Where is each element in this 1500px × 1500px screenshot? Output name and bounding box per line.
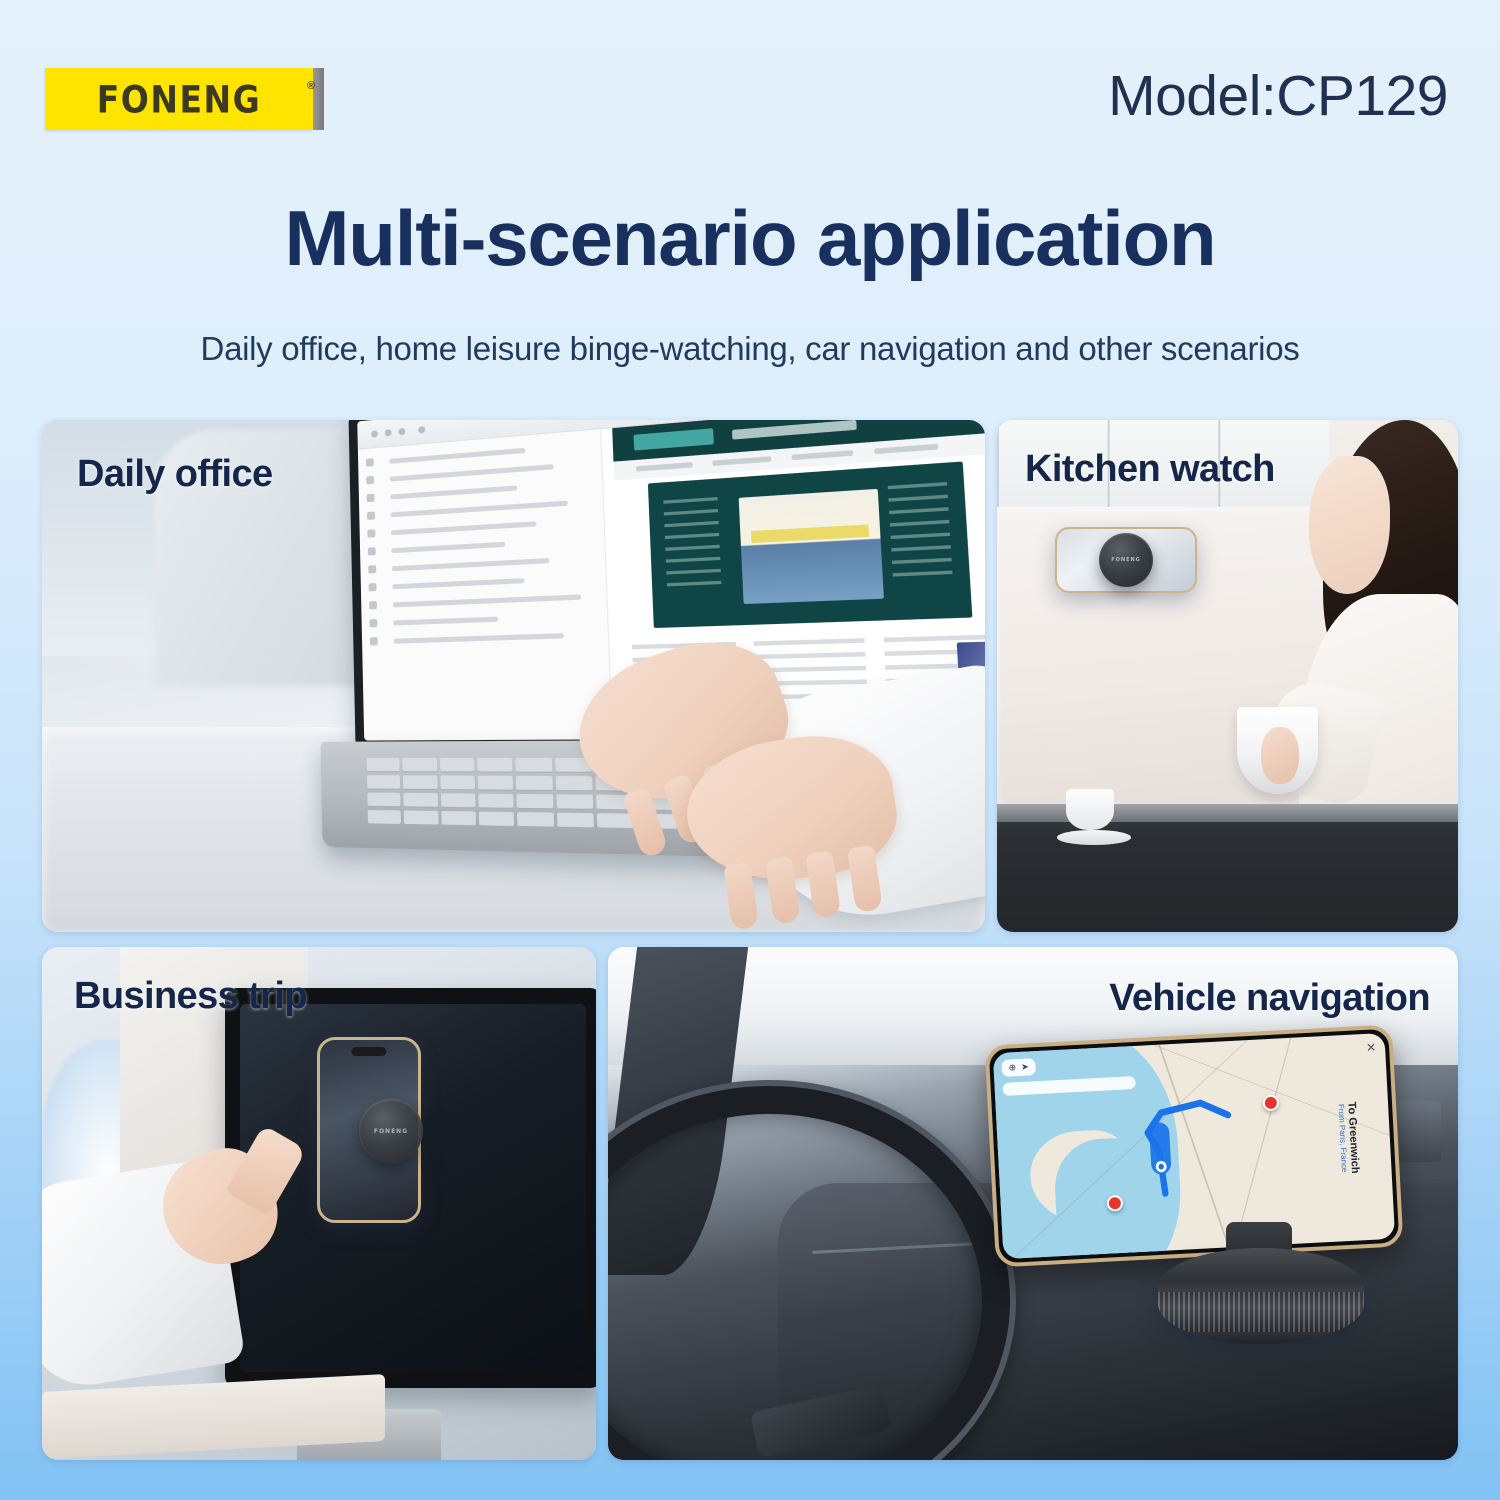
mount-base-car <box>1158 1248 1364 1344</box>
compass-icon[interactable]: ⊕ <box>1008 1062 1016 1073</box>
magnetic-disc-kitchen: FONENG <box>1099 533 1153 587</box>
person-hand <box>1261 727 1299 783</box>
vehicle-navigation-photo: ⊕ ➤ ✕ To Greenwich From Paris, France <box>608 947 1458 1460</box>
registered-trademark-icon: ® <box>307 80 337 92</box>
brand-logo: FONENG ® <box>45 68 324 130</box>
screen-thumbnail <box>739 489 884 604</box>
scenario-card-vehicle-navigation[interactable]: ⊕ ➤ ✕ To Greenwich From Paris, France <box>608 947 1458 1460</box>
brand-logo-text: FONENG <box>97 77 261 121</box>
phone-mount-product-plane: FONENG <box>317 1037 437 1237</box>
phone-mount-product-kitchen: FONENG <box>1055 527 1215 599</box>
screen-feature-panel <box>649 462 973 628</box>
business-trip-photo: FONENG <box>42 947 596 1460</box>
page-subtitle: Daily office, home leisure binge-watchin… <box>0 330 1500 368</box>
map-pin-destination[interactable] <box>1262 1094 1279 1111</box>
brand-logo-plate: FONENG ® <box>45 68 313 130</box>
disc-brand-text-plane: FONENG <box>374 1128 408 1135</box>
typing-hands <box>551 625 985 932</box>
phone-mount-product-car <box>1148 1222 1378 1352</box>
card-label-daily-office: Daily office <box>77 453 273 496</box>
scenario-card-kitchen-watch[interactable]: FONENG Kitchen watch <box>997 420 1458 932</box>
model-number: Model:CP129 <box>1108 63 1448 129</box>
brand-logo-bar <box>313 68 324 130</box>
page-header: FONENG ® Model:CP129 <box>0 0 1500 175</box>
espresso-cup <box>1057 789 1131 845</box>
navigate-arrow-icon[interactable]: ➤ <box>1021 1062 1029 1073</box>
mount-base-knurling-car <box>1158 1292 1364 1332</box>
cup-saucer <box>1057 830 1131 845</box>
magnetic-disc-plane: FONENG <box>359 1099 423 1163</box>
page-title: Multi-scenario application <box>0 193 1500 284</box>
cup-body <box>1066 789 1115 831</box>
disc-brand-text-kitchen: FONENG <box>1111 557 1141 563</box>
card-label-business-trip: Business trip <box>74 975 307 1018</box>
phone-notch-plane <box>351 1047 386 1056</box>
close-icon[interactable]: ✕ <box>1366 1041 1377 1054</box>
scenario-card-business-trip[interactable]: FONENG Business trip <box>42 947 596 1460</box>
map-destination-panel: To Greenwich From Paris, France <box>1336 1101 1361 1174</box>
map-controls-chip[interactable]: ⊕ ➤ <box>1001 1058 1036 1077</box>
card-label-kitchen-watch: Kitchen watch <box>1025 448 1275 491</box>
card-label-vehicle-navigation: Vehicle navigation <box>1109 977 1430 1020</box>
scenario-card-grid: FONENG Daily office <box>42 420 1458 1460</box>
kitchen-watch-photo: FONENG <box>997 420 1458 932</box>
scenario-card-daily-office[interactable]: FONENG Daily office <box>42 420 985 932</box>
daily-office-photo: FONENG <box>42 420 985 932</box>
